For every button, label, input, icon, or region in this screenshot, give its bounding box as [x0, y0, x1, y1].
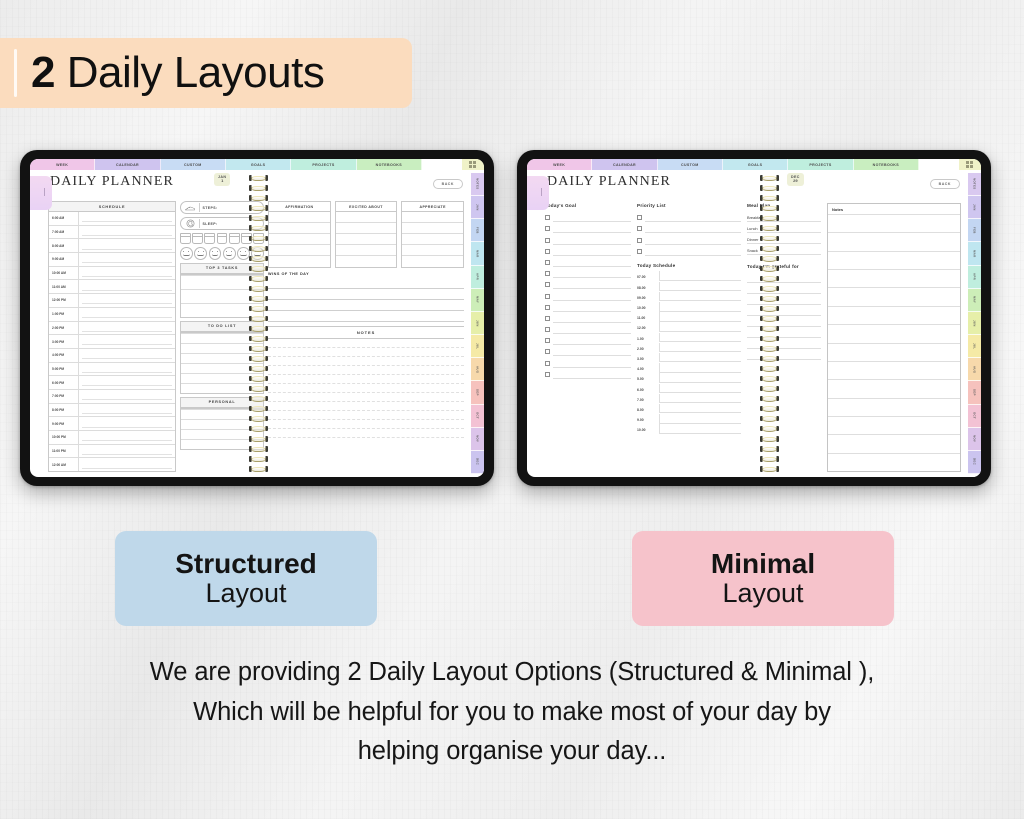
schedule-row[interactable]: 3.00 [637, 352, 741, 362]
schedule-line[interactable] [79, 335, 175, 348]
nav-tab-custom[interactable]: CUSTOM [658, 159, 723, 170]
notes-rows[interactable] [268, 339, 464, 438]
meal-plan-rows[interactable]: Breakfast Lunch Dinner Snack [747, 211, 821, 255]
water-glass-icon[interactable] [229, 233, 240, 244]
reflection-row[interactable] [336, 245, 397, 256]
checkbox-row[interactable] [545, 278, 631, 289]
schedule-row[interactable]: 7:00 PM [49, 390, 175, 404]
checkbox-row[interactable] [545, 323, 631, 334]
month-tab-mar[interactable]: MAR [968, 242, 981, 265]
footer-description: We are providing 2 Daily Layout Options … [0, 653, 1024, 772]
reflection-row[interactable] [269, 245, 330, 256]
notes-section: NOTES [268, 326, 464, 472]
checkbox-icon[interactable] [545, 215, 550, 220]
wins-row[interactable] [268, 300, 464, 311]
month-tab-sep[interactable]: SEP [471, 381, 484, 404]
checkbox-row[interactable] [545, 356, 631, 367]
schedule-line[interactable] [659, 353, 741, 363]
schedule-line[interactable] [659, 384, 741, 394]
nav-tab-calendar[interactable]: CALENDAR [592, 159, 657, 170]
notes-rows[interactable] [828, 214, 960, 471]
water-glass-icon[interactable] [180, 233, 191, 244]
schedule-row[interactable]: 6:00 PM [49, 376, 175, 390]
notes-line[interactable] [268, 402, 464, 411]
schedule-line[interactable] [79, 267, 175, 280]
schedule-row[interactable]: 9:00 PM [49, 417, 175, 431]
schedule-line[interactable] [659, 302, 741, 312]
water-glass-icon[interactable] [253, 233, 264, 244]
schedule-line[interactable] [659, 373, 741, 383]
schedule-row[interactable]: 4:00 PM [49, 349, 175, 363]
checkbox-icon[interactable] [545, 305, 550, 310]
notes-line[interactable] [828, 269, 960, 287]
list-row[interactable] [181, 289, 263, 303]
wins-row[interactable] [268, 311, 464, 322]
schedule-row[interactable]: 7:00 AM [49, 226, 175, 240]
steps-tracker[interactable]: STEPS: [180, 201, 264, 214]
checkbox-row[interactable] [545, 222, 631, 233]
schedule-line[interactable] [79, 294, 175, 307]
schedule-line[interactable] [659, 292, 741, 302]
list-row[interactable] [181, 383, 263, 393]
reflection-row[interactable] [269, 234, 330, 245]
month-tab-jul[interactable]: JUL [968, 335, 981, 358]
reflection-row[interactable] [336, 256, 397, 267]
write-line[interactable] [747, 305, 821, 316]
month-tab-jan[interactable]: JAN [968, 196, 981, 219]
write-line[interactable] [747, 272, 821, 283]
nav-tab-notebooks[interactable]: NOTEBOOKS [854, 159, 919, 170]
left-side-flap[interactable] [527, 176, 549, 210]
screen-structured: WEEK CALENDAR CUSTOM GOALS PROJECTS NOTE… [30, 159, 484, 477]
notes-line[interactable] [268, 393, 464, 402]
reflection-row[interactable] [269, 212, 330, 223]
month-tab-jan[interactable]: JAN [471, 196, 484, 219]
checkbox-icon[interactable] [545, 349, 550, 354]
schedule-row[interactable]: 11:00 AM [49, 280, 175, 294]
schedule-time: 3:00 PM [49, 335, 79, 348]
month-tab-aug[interactable]: AUG [968, 358, 981, 381]
nav-tab-week[interactable]: WEEK [30, 159, 95, 170]
schedule-time: 5:00 PM [49, 363, 79, 376]
notes-line[interactable] [828, 214, 960, 232]
nav-tab-calendar[interactable]: CALENDAR [95, 159, 160, 170]
schedule-line[interactable] [659, 282, 741, 292]
nav-tab-custom[interactable]: CUSTOM [161, 159, 226, 170]
write-line[interactable] [553, 326, 631, 334]
water-glass-icon[interactable] [192, 233, 203, 244]
schedule-row[interactable]: 11.00 [637, 312, 741, 322]
footer-line-3: helping organise your day... [0, 732, 1024, 772]
month-tab-oct[interactable]: OCT [968, 405, 981, 428]
schedule-line[interactable] [659, 333, 741, 343]
back-button-structured[interactable]: BACK [433, 179, 463, 189]
checkbox-icon[interactable] [545, 249, 550, 254]
schedule-line[interactable] [79, 226, 175, 239]
notes-line[interactable] [828, 416, 960, 434]
list-row[interactable] [181, 353, 263, 363]
notes-line[interactable] [828, 434, 960, 452]
list-row[interactable] [181, 275, 263, 289]
sleep-tracker[interactable]: SLEEP: [180, 217, 264, 230]
checkbox-icon[interactable] [545, 294, 550, 299]
checkbox-icon[interactable] [545, 226, 550, 231]
notes-line[interactable] [268, 411, 464, 420]
write-line[interactable] [553, 225, 631, 233]
paper-structured: DAILY PLANNER JAN 1 BACK SCHEDULE 6:00 A… [42, 170, 471, 477]
schedule-row[interactable]: 8:00 PM [49, 404, 175, 418]
month-tab-apr[interactable]: APR [968, 266, 981, 289]
month-tab-dec[interactable]: DEC [471, 451, 484, 474]
schedule-row[interactable]: 7.00 [637, 393, 741, 403]
checkbox-row[interactable] [545, 345, 631, 356]
schedule-time: 11:00 PM [49, 445, 79, 458]
todo-list-rows[interactable] [180, 332, 264, 394]
schedule-row[interactable]: 8:00 AM [49, 239, 175, 253]
wins-row[interactable] [268, 289, 464, 300]
notes-line[interactable] [828, 453, 960, 471]
write-line[interactable] [553, 248, 631, 256]
nav-tab-week[interactable]: WEEK [527, 159, 592, 170]
schedule-line[interactable] [79, 308, 175, 321]
notes-column: Notes [827, 203, 961, 472]
write-line[interactable] [553, 281, 631, 289]
write-line[interactable] [747, 316, 821, 327]
list-row[interactable] [181, 409, 263, 419]
footer-line-2: Which will be helpful for you to make mo… [0, 693, 1024, 733]
schedule-row[interactable]: 10.00 [637, 301, 741, 311]
schedule-line[interactable] [79, 445, 175, 458]
reflection-box: EXCITED ABOUT [335, 201, 398, 268]
month-tab-nov[interactable]: NOV [968, 428, 981, 451]
grid-menu-icon[interactable] [959, 159, 981, 170]
schedule-line[interactable] [659, 343, 741, 353]
schedule-line[interactable] [659, 394, 741, 404]
schedule-row[interactable]: 1.00 [637, 332, 741, 342]
notes-line[interactable] [828, 324, 960, 342]
grid-menu-icon[interactable] [462, 159, 484, 170]
water-glass-icon[interactable] [217, 233, 228, 244]
schedule-row[interactable]: 12:00 PM [49, 294, 175, 308]
water-glass-icon[interactable] [241, 233, 252, 244]
schedule-row[interactable]: 11:00 PM [49, 445, 175, 459]
mood-face-icon[interactable] [237, 247, 250, 260]
month-tab-oct[interactable]: OCT [471, 405, 484, 428]
schedule-line[interactable] [79, 253, 175, 266]
month-tab-apr[interactable]: APR [471, 266, 484, 289]
reflection-row[interactable] [402, 245, 463, 256]
write-line[interactable] [747, 283, 821, 294]
schedule-time: 12.00 [637, 326, 659, 332]
checkbox-row[interactable] [637, 211, 741, 222]
checkbox-icon[interactable] [545, 316, 550, 321]
month-tab-notes[interactable]: NOTES [471, 173, 484, 196]
schedule-row[interactable]: 10:00 PM [49, 431, 175, 445]
schedule-line[interactable] [79, 431, 175, 444]
write-line[interactable] [553, 214, 631, 222]
month-tab-may[interactable]: MAY [471, 289, 484, 312]
reflection-row[interactable] [336, 223, 397, 234]
checkbox-row[interactable] [545, 301, 631, 312]
meal-row[interactable]: Snack [747, 244, 821, 255]
personal-rows[interactable] [180, 408, 264, 450]
schedule-line[interactable] [79, 404, 175, 417]
schedule-row[interactable]: 10.00 [637, 424, 741, 434]
schedule-time: 10:00 PM [49, 431, 79, 444]
checkbox-row[interactable] [545, 211, 631, 222]
notes-line[interactable] [828, 232, 960, 250]
screen-minimal: WEEK CALENDAR CUSTOM GOALS PROJECTS NOTE… [527, 159, 981, 477]
month-tab-jun[interactable]: JUN [968, 312, 981, 335]
checkbox-icon[interactable] [545, 327, 550, 332]
month-tab-dec[interactable]: DEC [968, 451, 981, 474]
write-line[interactable] [553, 360, 631, 368]
date-day: 29 [791, 179, 800, 184]
notes-line[interactable] [268, 429, 464, 438]
schedule-row[interactable]: 9.00 [637, 413, 741, 423]
top3-tasks-box: TOP 3 TASKS [180, 263, 264, 318]
list-row[interactable] [181, 439, 263, 449]
checkbox-icon[interactable] [545, 372, 550, 377]
schedule-row[interactable]: 9:00 AM [49, 253, 175, 267]
notes-line[interactable] [268, 366, 464, 375]
pill-divider [199, 203, 200, 212]
checkbox-row[interactable] [545, 245, 631, 256]
schedule-row[interactable]: 2.00 [637, 342, 741, 352]
schedule-row[interactable]: 10:00 AM [49, 267, 175, 281]
checkbox-icon[interactable] [637, 249, 642, 254]
write-line[interactable] [553, 293, 631, 301]
schedule-row[interactable]: 1:00 PM [49, 308, 175, 322]
write-line[interactable] [553, 270, 631, 278]
month-tab-notes[interactable]: NOTES [968, 173, 981, 196]
list-row[interactable] [181, 419, 263, 429]
checkbox-icon[interactable] [545, 271, 550, 276]
nav-tab-goals[interactable]: GOALS [226, 159, 291, 170]
schedule-time: 5.00 [637, 377, 659, 383]
date-day: 1 [218, 179, 226, 184]
schedule-row[interactable]: 3:00 PM [49, 335, 175, 349]
schedule-line[interactable] [659, 271, 741, 281]
notes-line[interactable] [268, 420, 464, 429]
wins-row[interactable] [268, 278, 464, 289]
priority-list-header: Priority List [637, 203, 741, 208]
month-tab-feb[interactable]: FEB [968, 219, 981, 242]
meal-row[interactable]: Dinner [747, 233, 821, 244]
mood-face-icon[interactable] [180, 247, 193, 260]
write-line[interactable] [645, 237, 741, 245]
schedule-line[interactable] [659, 312, 741, 322]
schedule-line[interactable] [659, 404, 741, 414]
today-schedule-rows[interactable]: 07.00 08.00 09.00 10.00 11.00 12.00 1.00… [637, 271, 741, 434]
schedule-row[interactable]: 09.00 [637, 291, 741, 301]
schedule-line[interactable] [79, 390, 175, 403]
water-glass-icon[interactable] [204, 233, 215, 244]
chip-line1: Minimal [711, 549, 815, 579]
schedule-time: 7:00 PM [49, 390, 79, 403]
reflection-row[interactable] [402, 223, 463, 234]
schedule-line[interactable] [659, 322, 741, 332]
month-tab-sep[interactable]: SEP [968, 381, 981, 404]
list-row[interactable] [181, 303, 263, 317]
write-line[interactable] [645, 225, 741, 233]
checkbox-row[interactable] [545, 256, 631, 267]
reflection-row[interactable] [402, 212, 463, 223]
schedule-line[interactable] [79, 376, 175, 389]
checkbox-icon[interactable] [545, 361, 550, 366]
notes-line[interactable] [268, 348, 464, 357]
checkbox-row[interactable] [637, 233, 741, 244]
mood-face-icon[interactable] [223, 247, 236, 260]
schedule-line[interactable] [79, 349, 175, 362]
schedule-row[interactable]: 4.00 [637, 362, 741, 372]
checkbox-icon[interactable] [545, 282, 550, 287]
month-tab-jul[interactable]: JUL [471, 335, 484, 358]
schedule-row[interactable]: 12:00 AM [49, 458, 175, 471]
date-badge-structured[interactable]: JAN 1 [214, 173, 230, 186]
schedule-row[interactable]: 2:00 PM [49, 322, 175, 336]
checkbox-icon[interactable] [637, 226, 642, 231]
notes-line[interactable] [828, 306, 960, 324]
schedule-line[interactable] [79, 239, 175, 252]
meal-row[interactable]: Lunch [747, 222, 821, 233]
back-button-minimal[interactable]: BACK [930, 179, 960, 189]
schedule-row[interactable]: 07.00 [637, 271, 741, 281]
checkbox-row[interactable] [637, 245, 741, 256]
month-tab-may[interactable]: MAY [968, 289, 981, 312]
write-line[interactable] [747, 294, 821, 305]
checkbox-icon[interactable] [545, 338, 550, 343]
schedule-line[interactable] [79, 322, 175, 335]
write-line[interactable] [553, 337, 631, 345]
mood-face-icon[interactable] [251, 247, 264, 260]
checkbox-row[interactable] [545, 267, 631, 278]
shoe-icon [184, 203, 196, 212]
notes-line[interactable] [828, 287, 960, 305]
meal-label: Breakfast [747, 215, 763, 222]
write-line[interactable] [645, 248, 741, 256]
list-row[interactable] [181, 333, 263, 343]
reflection-box-header: EXCITED ABOUT [336, 202, 397, 212]
write-line[interactable] [645, 214, 741, 222]
notes-line[interactable] [268, 375, 464, 384]
schedule-line[interactable] [79, 458, 175, 471]
list-row[interactable] [181, 429, 263, 439]
schedule-row[interactable]: 6.00 [637, 383, 741, 393]
checkbox-icon[interactable] [637, 238, 642, 243]
meal-grateful-column: Meal Plan Breakfast Lunch Dinner Snack T… [747, 203, 821, 472]
schedule-row[interactable]: 6:00 AM [49, 212, 175, 226]
notes-line[interactable] [268, 357, 464, 366]
schedule-row[interactable]: 5:00 PM [49, 363, 175, 377]
mood-face-icon[interactable] [209, 247, 222, 260]
write-line[interactable] [553, 237, 631, 245]
wins-rows[interactable] [268, 278, 464, 322]
schedule-line[interactable] [659, 424, 741, 434]
checkbox-icon[interactable] [545, 260, 550, 265]
left-side-flap[interactable] [30, 176, 52, 210]
notes-line[interactable] [828, 361, 960, 379]
checkbox-row[interactable] [637, 222, 741, 233]
schedule-line[interactable] [79, 417, 175, 430]
date-badge-minimal[interactable]: DEC 29 [787, 173, 804, 186]
mood-face-icon[interactable] [194, 247, 207, 260]
nav-tab-projects[interactable]: PROJECTS [291, 159, 356, 170]
write-line[interactable] [553, 304, 631, 312]
nav-tab-projects[interactable]: PROJECTS [788, 159, 853, 170]
checkbox-icon[interactable] [637, 215, 642, 220]
meal-row[interactable]: Breakfast [747, 211, 821, 222]
schedule-row[interactable]: 8.00 [637, 403, 741, 413]
reflection-row[interactable] [402, 234, 463, 245]
write-line[interactable] [553, 371, 631, 379]
month-tab-jun[interactable]: JUN [471, 312, 484, 335]
todays-goal-rows[interactable] [545, 211, 631, 379]
month-tab-feb[interactable]: FEB [471, 219, 484, 242]
checkbox-row[interactable] [545, 312, 631, 323]
notes-line[interactable] [268, 339, 464, 348]
notes-line[interactable] [828, 343, 960, 361]
list-row[interactable] [181, 373, 263, 383]
reflection-row[interactable] [269, 256, 330, 267]
write-line[interactable] [553, 315, 631, 323]
write-line[interactable] [553, 259, 631, 267]
write-line[interactable] [553, 348, 631, 356]
checkbox-row[interactable] [545, 334, 631, 345]
write-line[interactable] [747, 349, 821, 360]
schedule-row[interactable]: 08.00 [637, 281, 741, 291]
steps-label: STEPS: [203, 206, 218, 210]
schedule-line[interactable] [659, 363, 741, 373]
mood-tracker[interactable] [180, 247, 264, 260]
schedule-line[interactable] [79, 280, 175, 293]
schedule-row[interactable]: 12.00 [637, 322, 741, 332]
list-row[interactable] [181, 343, 263, 353]
nav-tab-goals[interactable]: GOALS [723, 159, 788, 170]
checkbox-row[interactable] [545, 368, 631, 379]
checkbox-icon[interactable] [545, 238, 550, 243]
list-row[interactable] [181, 363, 263, 373]
today-schedule-header: Today Schedule [637, 263, 741, 268]
water-tracker[interactable] [180, 233, 264, 244]
grateful-rows[interactable] [747, 272, 821, 360]
checkbox-row[interactable] [545, 233, 631, 244]
month-tab-mar[interactable]: MAR [471, 242, 484, 265]
notes-line[interactable] [828, 398, 960, 416]
schedule-line[interactable] [79, 363, 175, 376]
notes-line[interactable] [828, 251, 960, 269]
reflection-row[interactable] [336, 234, 397, 245]
month-tab-nov[interactable]: NOV [471, 428, 484, 451]
nav-tab-notebooks[interactable]: NOTEBOOKS [357, 159, 422, 170]
page-title: 2 Daily Layouts [31, 48, 324, 98]
write-line[interactable] [747, 327, 821, 338]
checkbox-row[interactable] [545, 289, 631, 300]
notes-line[interactable] [828, 379, 960, 397]
reflection-row[interactable] [402, 256, 463, 267]
notes-line[interactable] [268, 384, 464, 393]
reflection-row[interactable] [336, 212, 397, 223]
page-title-banner: 2 Daily Layouts [0, 38, 412, 108]
reflection-row[interactable] [269, 223, 330, 234]
schedule-line[interactable] [659, 414, 741, 424]
priority-list-rows[interactable] [637, 211, 741, 256]
top3-tasks-rows[interactable] [180, 274, 264, 318]
month-tab-aug[interactable]: AUG [471, 358, 484, 381]
schedule-row[interactable]: 5.00 [637, 373, 741, 383]
write-line[interactable] [747, 338, 821, 349]
schedule-line[interactable] [79, 212, 175, 225]
